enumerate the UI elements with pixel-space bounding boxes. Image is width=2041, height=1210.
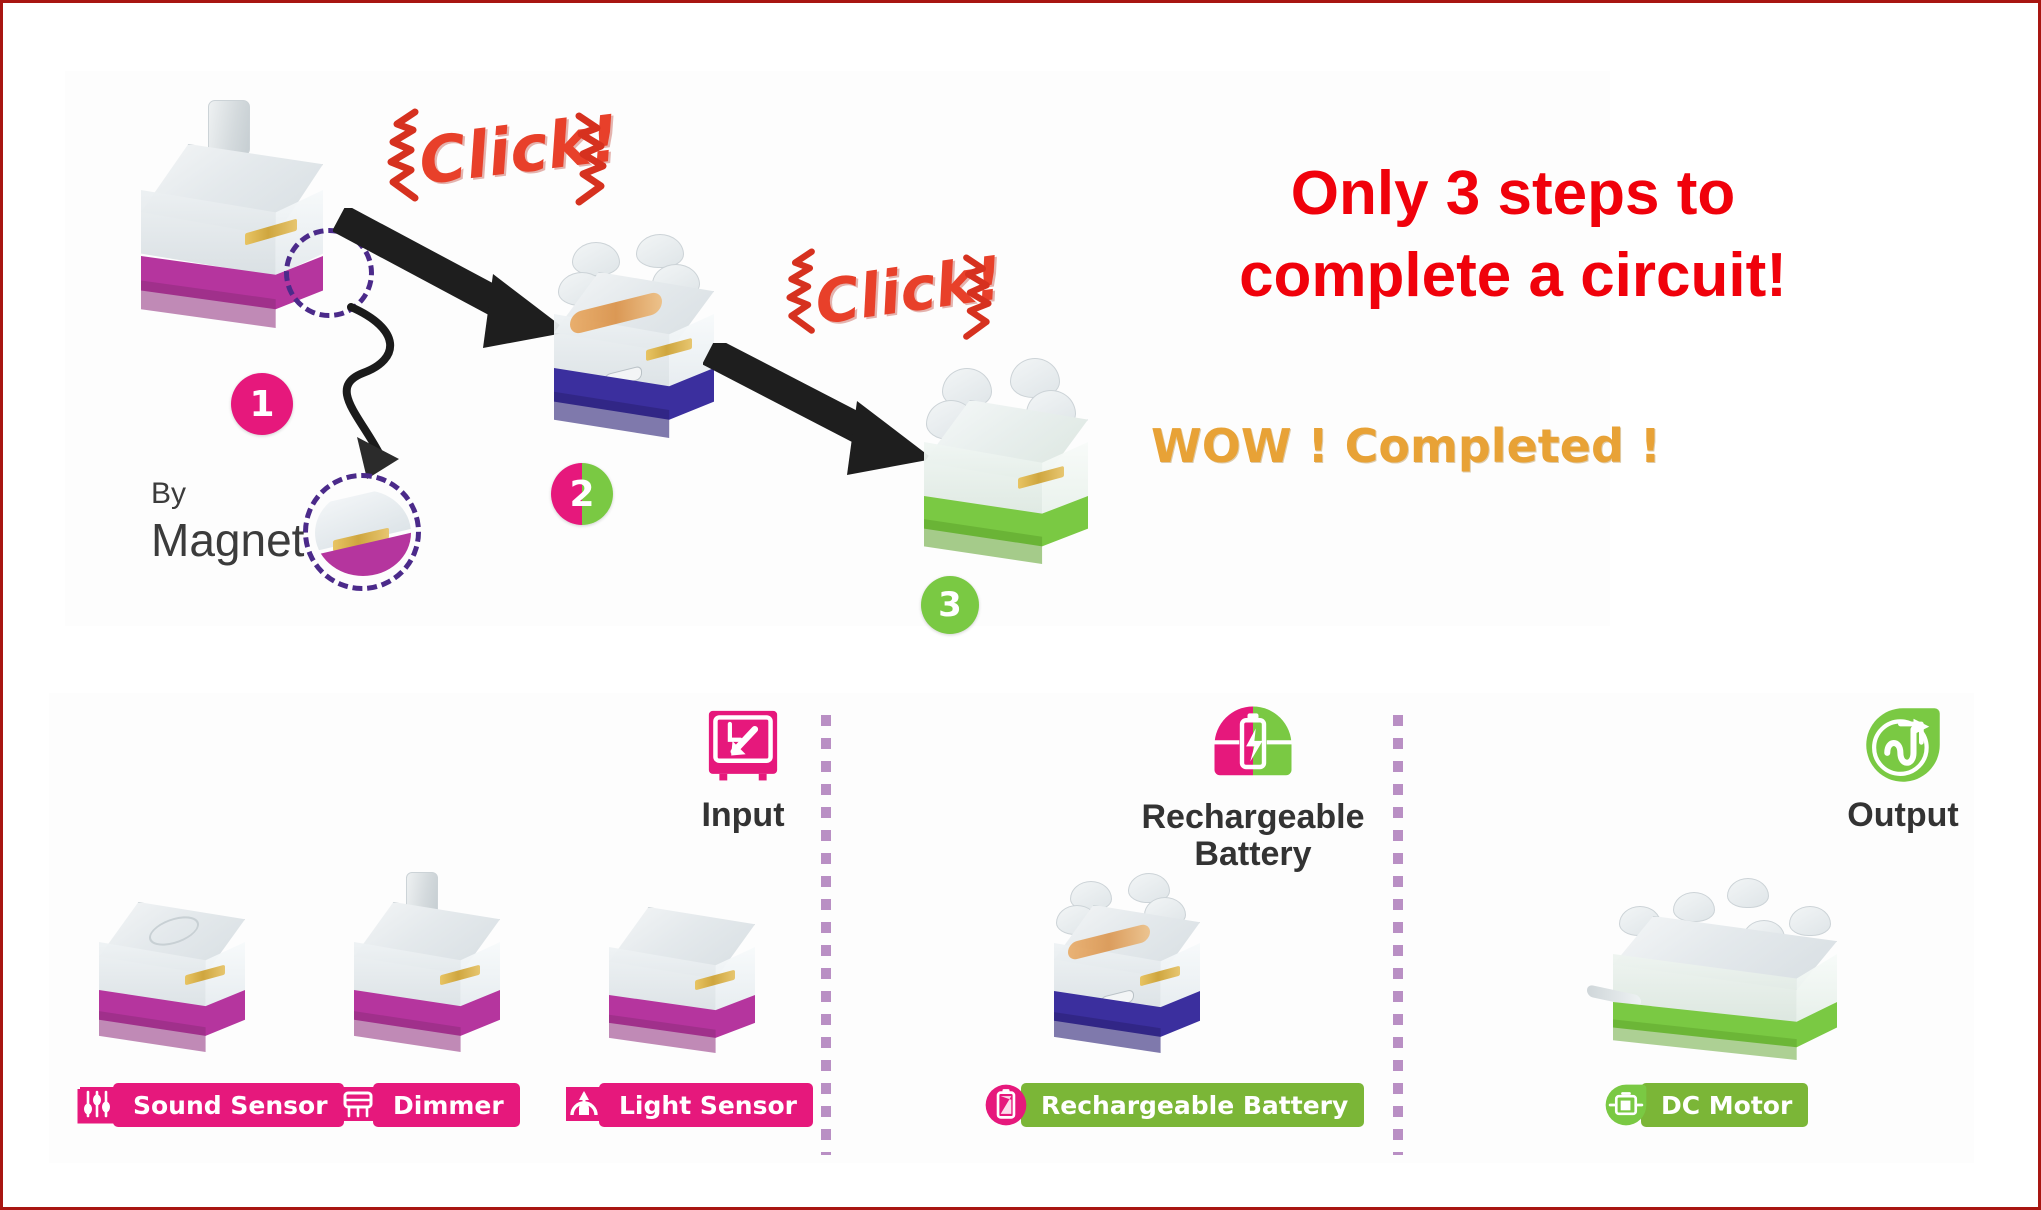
chip-dimmer[interactable]: Dimmer bbox=[335, 1083, 520, 1127]
dimmer-knob-icon bbox=[208, 100, 250, 156]
step-badge-3: 3 bbox=[921, 576, 979, 634]
step-badge-1: 1 bbox=[231, 373, 293, 435]
module-brick-sound-sensor bbox=[93, 898, 253, 1053]
category-output-label: Output bbox=[1783, 797, 2023, 834]
stud-icon bbox=[1673, 892, 1715, 922]
step-2-brick bbox=[548, 258, 728, 438]
stud-icon bbox=[1727, 878, 1769, 908]
category-battery: Rechargeable Battery bbox=[1113, 701, 1393, 874]
stud-icon bbox=[572, 242, 620, 276]
sliders-icon bbox=[75, 1082, 121, 1128]
chip-dimmer-label: Dimmer bbox=[373, 1083, 520, 1127]
chip-light-sensor-label: Light Sensor bbox=[599, 1083, 813, 1127]
dimmer-icon bbox=[335, 1082, 381, 1128]
module-brick-dc-motor bbox=[1603, 898, 1853, 1058]
poster-frame: 1 By Magnet Click! bbox=[0, 0, 2041, 1210]
burst-right-icon bbox=[569, 112, 621, 208]
input-arrow-icon bbox=[701, 703, 785, 787]
output-arrow-icon bbox=[1861, 703, 1945, 787]
completed-note: WOW ! Completed ! bbox=[1151, 419, 1661, 473]
motor-icon bbox=[1603, 1082, 1649, 1128]
chip-sound-sensor-label: Sound Sensor bbox=[113, 1083, 344, 1127]
chip-rechargeable-battery[interactable]: Rechargeable Battery bbox=[983, 1083, 1364, 1127]
module-brick-battery bbox=[1048, 893, 1208, 1053]
stud-icon bbox=[1789, 906, 1831, 936]
step-3-brick bbox=[918, 378, 1098, 563]
battery-icon bbox=[983, 1082, 1029, 1128]
module-brick-light-sensor bbox=[603, 903, 763, 1053]
chip-dc-motor-label: DC Motor bbox=[1641, 1083, 1808, 1127]
burst-left-icon bbox=[373, 108, 425, 204]
chip-dc-motor[interactable]: DC Motor bbox=[1603, 1083, 1808, 1127]
magnet-label: Magnet bbox=[151, 513, 304, 567]
magnet-detached-piece bbox=[315, 490, 411, 576]
click-burst-1: Click! bbox=[373, 108, 633, 218]
step-badge-2: 2 bbox=[551, 463, 613, 525]
stud-icon bbox=[636, 234, 684, 268]
magnet-prefix-label: By bbox=[151, 477, 186, 511]
module-brick-dimmer bbox=[348, 898, 508, 1053]
divider-input-battery bbox=[821, 715, 831, 1155]
burst-right-icon bbox=[957, 254, 1005, 342]
chip-light-sensor[interactable]: Light Sensor bbox=[561, 1083, 813, 1127]
click-burst-2: Click! bbox=[773, 248, 1023, 358]
category-output: Output bbox=[1783, 703, 2023, 834]
category-battery-label: Rechargeable Battery bbox=[1113, 799, 1393, 874]
step-badge-1-number: 1 bbox=[249, 384, 274, 425]
chip-rechargeable-battery-label: Rechargeable Battery bbox=[1021, 1083, 1364, 1127]
divider-battery-output bbox=[1393, 715, 1403, 1155]
chip-sound-sensor[interactable]: Sound Sensor bbox=[75, 1083, 344, 1127]
light-sensor-icon bbox=[561, 1082, 607, 1128]
battery-circle-icon bbox=[1209, 701, 1297, 789]
step-badge-2-number: 2 bbox=[569, 474, 594, 515]
step-badge-3-number: 3 bbox=[938, 585, 962, 625]
page-title: Only 3 steps to complete a circuit! bbox=[1183, 153, 1843, 317]
